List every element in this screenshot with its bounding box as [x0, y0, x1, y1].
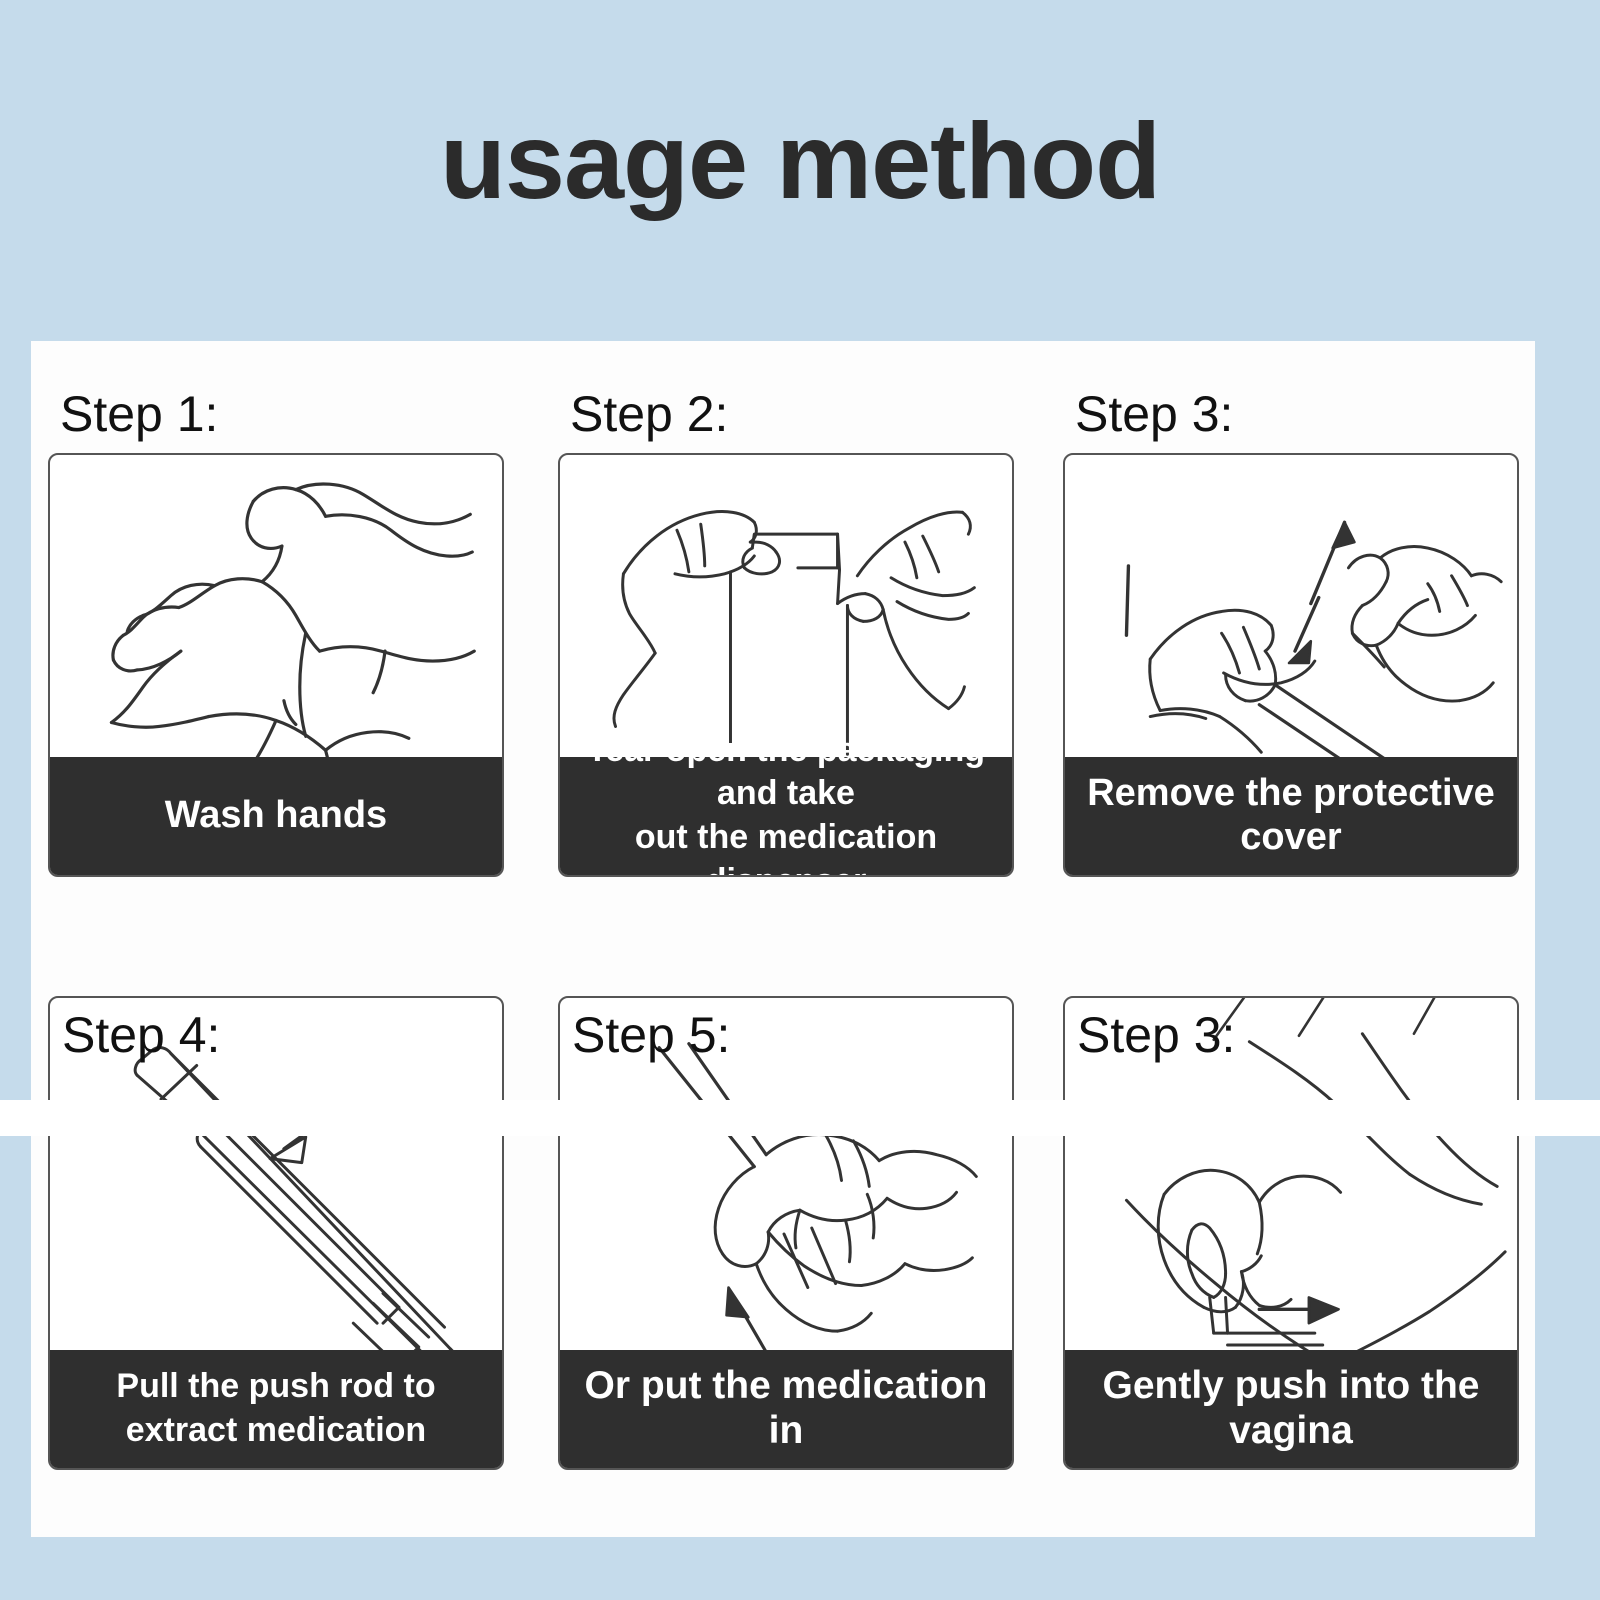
step-caption-2: Tear open the packaging and take out the…: [560, 757, 1012, 875]
step-caption-2-line-2: out the medication dispenser: [566, 816, 1006, 877]
step-caption-4-line-1: Pull the push rod to: [116, 1365, 435, 1409]
step-caption-6-line-1: Gently push into the vagina: [1071, 1364, 1511, 1454]
steps-grid: Step 1:: [31, 341, 1535, 1537]
dashed-top-border-4: [253, 996, 498, 998]
step-panel-6: Step 3:: [1063, 996, 1519, 1496]
step-label-2: Step 2:: [570, 389, 1014, 439]
step-image-box-3: Remove the protective cover: [1063, 453, 1519, 877]
step-caption-2-line-1: Tear open the packaging and take: [566, 729, 1006, 816]
white-divider-band: [0, 1100, 1600, 1136]
step-label-5: Step 5:: [572, 1010, 730, 1060]
dashed-top-border-6: [1067, 996, 1513, 998]
step-image-box-6: Step 3:: [1063, 996, 1519, 1470]
step-panel-3: Step 3:: [1063, 389, 1519, 889]
step-panel-1: Step 1:: [48, 389, 504, 889]
dashed-top-border-5: [763, 996, 1008, 998]
step-caption-6: Gently push into the vagina: [1065, 1350, 1517, 1468]
step-caption-5-line-1: Or put the medication in: [566, 1364, 1006, 1454]
step-image-box-5: Step 5:: [558, 996, 1014, 1470]
step-panel-2: Step 2:: [558, 389, 1014, 889]
step-image-box-2: Tear open the packaging and take out the…: [558, 453, 1014, 877]
step-label-3: Step 3:: [1075, 389, 1519, 439]
instruction-card: Step 1:: [31, 341, 1535, 1537]
step-image-box-1: Wash hands: [48, 453, 504, 877]
step-panel-4: Step 4:: [48, 996, 504, 1496]
step-label-1: Step 1:: [60, 389, 504, 439]
step-caption-3: Remove the protective cover: [1065, 757, 1517, 875]
step-image-box-4: Step 4:: [48, 996, 504, 1470]
step-label-6: Step 3:: [1077, 1010, 1235, 1060]
step-caption-1-line-1: Wash hands: [165, 794, 387, 838]
step-caption-1: Wash hands: [50, 757, 502, 875]
page-title: usage method: [0, 104, 1600, 217]
step-caption-3-line-1: Remove the protective cover: [1071, 772, 1511, 859]
step-label-4: Step 4:: [62, 1010, 220, 1060]
step-caption-4: Pull the push rod to extract medication: [50, 1350, 502, 1468]
step-caption-4-line-2: extract medication: [116, 1409, 435, 1453]
step-panel-5: Step 5:: [558, 996, 1014, 1496]
step-caption-5: Or put the medication in: [560, 1350, 1012, 1468]
